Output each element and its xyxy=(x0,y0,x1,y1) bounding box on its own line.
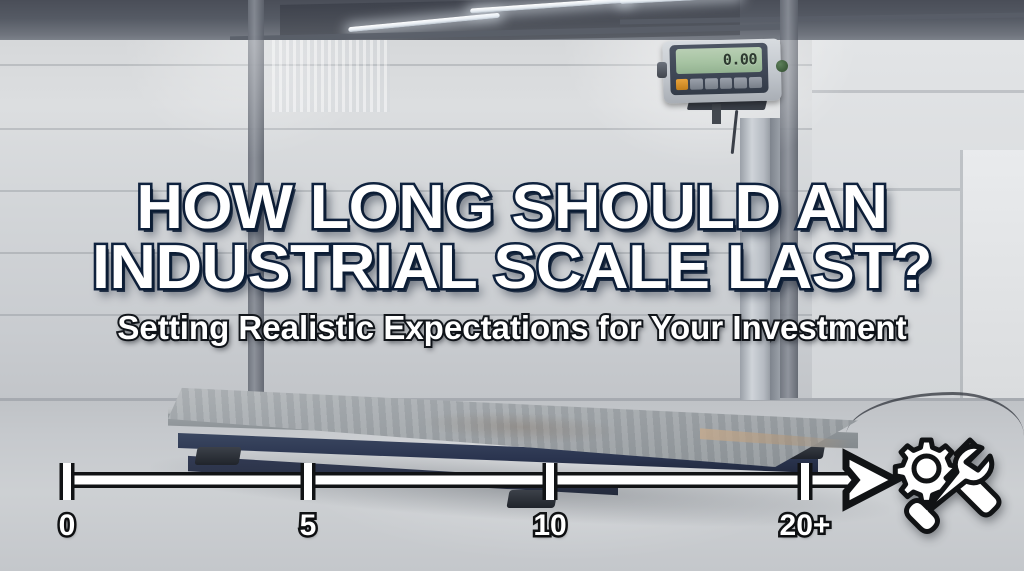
indicator-knob-left xyxy=(657,62,667,78)
floor-wall-junction xyxy=(0,398,1024,401)
indicator-key[interactable] xyxy=(734,77,747,88)
weight-indicator-display: 0.00 xyxy=(676,47,763,74)
thumbnail-canvas: 0.00 HOW LONG SHOULD AN INDUSTRIAL SCALE… xyxy=(0,0,1024,571)
gear-wrench-screwdriver-icon xyxy=(884,432,1008,540)
light-glow xyxy=(120,40,380,160)
headline-line-1: HOW LONG SHOULD AN xyxy=(0,178,1024,238)
indicator-function-key[interactable] xyxy=(676,78,688,89)
indicator-key[interactable] xyxy=(690,78,703,89)
indicator-knob-right xyxy=(776,60,788,72)
tick-label-20plus: 20+ xyxy=(780,511,831,541)
weight-indicator-keypad[interactable] xyxy=(676,75,762,91)
headline-block: HOW LONG SHOULD AN INDUSTRIAL SCALE LAST… xyxy=(0,178,1024,350)
indicator-key[interactable] xyxy=(749,76,762,87)
indicator-key[interactable] xyxy=(705,78,718,89)
indicator-key[interactable] xyxy=(719,77,732,88)
platform-foot xyxy=(506,490,557,508)
weight-display-value: 0.00 xyxy=(723,52,758,68)
tick-label-5: 5 xyxy=(300,511,317,541)
indicator-stem xyxy=(712,104,721,124)
headline-subtitle: Setting Realistic Expectations for Your … xyxy=(0,306,1024,350)
tick-label-0: 0 xyxy=(59,511,76,541)
platform-foot xyxy=(194,447,241,465)
tick-label-10: 10 xyxy=(533,511,566,541)
headline-line-2: INDUSTRIAL SCALE LAST? xyxy=(0,238,1024,298)
